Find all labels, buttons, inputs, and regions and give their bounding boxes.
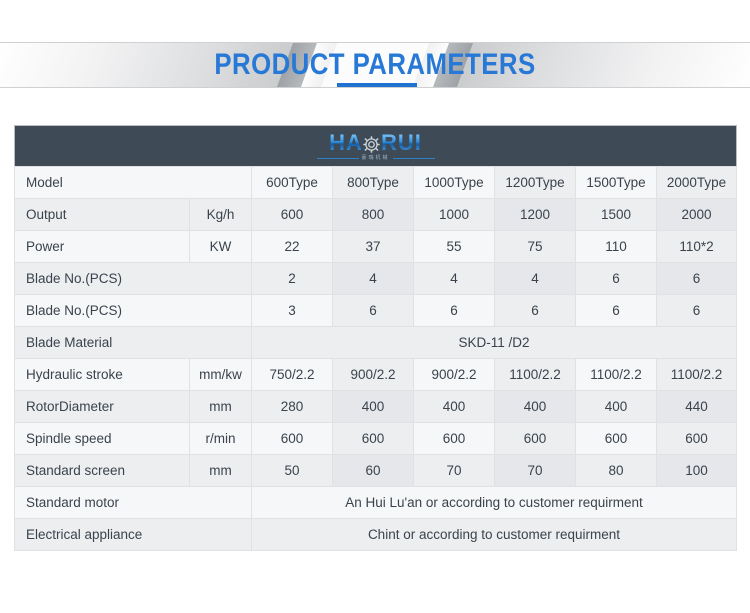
- row-value: 1200Type: [495, 167, 576, 199]
- product-parameters-page: PRODUCT PARAMETERS HA: [0, 0, 750, 613]
- row-label: Standard screen: [15, 455, 190, 487]
- logo-row: HA: [15, 126, 737, 167]
- row-value: 1100/2.2: [657, 359, 737, 391]
- row-value: 600: [333, 423, 414, 455]
- logo-stack: HA: [317, 132, 435, 161]
- table-row: OutputKg/h6008001000120015002000: [15, 199, 737, 231]
- logo-subtitle-text: 豪瑞机械: [362, 156, 390, 161]
- row-value: 110: [576, 231, 657, 263]
- row-value: 1500: [576, 199, 657, 231]
- row-value: 6: [333, 295, 414, 327]
- row-value: 600: [414, 423, 495, 455]
- row-value: 280: [252, 391, 333, 423]
- brand-logo: HA: [15, 126, 736, 166]
- row-label: Electrical appliance: [15, 519, 252, 551]
- row-value: 600: [252, 199, 333, 231]
- row-unit: mm: [190, 455, 252, 487]
- product-parameters-table: HA: [14, 125, 737, 551]
- row-label: RotorDiameter: [15, 391, 190, 423]
- table-row: Spindle speedr/min600600600600600600: [15, 423, 737, 455]
- row-value: 4: [333, 263, 414, 295]
- table-row: PowerKW22375575110110*2: [15, 231, 737, 263]
- logo-subtitle: 豪瑞机械: [317, 156, 435, 161]
- row-value: 60: [333, 455, 414, 487]
- row-value: 1200: [495, 199, 576, 231]
- table-row: Blade No.(PCS)244466: [15, 263, 737, 295]
- logo-text-after: RUI: [381, 132, 422, 154]
- row-value: 400: [414, 391, 495, 423]
- logo-rule-left: [317, 158, 359, 159]
- section-banner: PRODUCT PARAMETERS: [0, 42, 750, 88]
- row-value: 4: [414, 263, 495, 295]
- row-unit: KW: [190, 231, 252, 263]
- row-label: Output: [15, 199, 190, 231]
- row-value: 6: [576, 263, 657, 295]
- row-value: 1000Type: [414, 167, 495, 199]
- row-value: 600: [576, 423, 657, 455]
- table-row: Hydraulic strokemm/kw750/2.2900/2.2900/2…: [15, 359, 737, 391]
- row-value: 6: [576, 295, 657, 327]
- table-row: Blade No.(PCS)366666: [15, 295, 737, 327]
- row-unit: Kg/h: [190, 199, 252, 231]
- row-value: 1500Type: [576, 167, 657, 199]
- row-value: 800: [333, 199, 414, 231]
- row-value: 6: [414, 295, 495, 327]
- row-label: Blade Material: [15, 327, 252, 359]
- table-row: Standard screenmm5060707080100: [15, 455, 737, 487]
- logo-text-before: HA: [329, 132, 363, 154]
- row-value: 3: [252, 295, 333, 327]
- row-value: 400: [333, 391, 414, 423]
- row-value-merged: Chint or according to customer requirmen…: [252, 519, 737, 551]
- row-value: 75: [495, 231, 576, 263]
- row-label: Power: [15, 231, 190, 263]
- row-label: Hydraulic stroke: [15, 359, 190, 391]
- row-value-merged: An Hui Lu'an or according to customer re…: [252, 487, 737, 519]
- row-value: 70: [495, 455, 576, 487]
- row-value: 600: [657, 423, 737, 455]
- table-row: Model600Type800Type1000Type1200Type1500T…: [15, 167, 737, 199]
- logo-rule-right: [393, 158, 435, 159]
- row-value: 600: [495, 423, 576, 455]
- row-value: 2000Type: [657, 167, 737, 199]
- table-row: Electrical applianceChint or according t…: [15, 519, 737, 551]
- row-value: 600Type: [252, 167, 333, 199]
- row-value: 22: [252, 231, 333, 263]
- logo-wordmark: HA: [329, 132, 422, 154]
- row-value: 4: [495, 263, 576, 295]
- row-unit: r/min: [190, 423, 252, 455]
- table-row: Standard motorAn Hui Lu'an or according …: [15, 487, 737, 519]
- row-value: 100: [657, 455, 737, 487]
- spec-table-container: HA: [14, 125, 736, 551]
- row-label: Blade No.(PCS): [15, 263, 252, 295]
- brand-header-cell: HA: [15, 126, 737, 167]
- row-value: 70: [414, 455, 495, 487]
- row-value: 600: [252, 423, 333, 455]
- row-value: 50: [252, 455, 333, 487]
- row-value: 1100/2.2: [576, 359, 657, 391]
- title-underline: [337, 83, 417, 87]
- banner-rule-bottom: [0, 87, 750, 88]
- row-value: 1100/2.2: [495, 359, 576, 391]
- table-row: Blade MaterialSKD-11 /D2: [15, 327, 737, 359]
- spec-table-body: HA: [15, 126, 737, 551]
- row-value: 6: [657, 263, 737, 295]
- row-value: 2: [252, 263, 333, 295]
- row-value: 55: [414, 231, 495, 263]
- row-label: Blade No.(PCS): [15, 295, 252, 327]
- row-value: 900/2.2: [414, 359, 495, 391]
- row-value: 80: [576, 455, 657, 487]
- table-row: RotorDiametermm280400400400400440: [15, 391, 737, 423]
- row-unit: mm: [190, 391, 252, 423]
- row-value: 440: [657, 391, 737, 423]
- row-value: 400: [576, 391, 657, 423]
- row-value-merged: SKD-11 /D2: [252, 327, 737, 359]
- row-value: 900/2.2: [333, 359, 414, 391]
- row-value: 1000: [414, 199, 495, 231]
- row-value: 37: [333, 231, 414, 263]
- row-value: 6: [495, 295, 576, 327]
- row-value: 110*2: [657, 231, 737, 263]
- row-label: Model: [15, 167, 252, 199]
- row-label: Standard motor: [15, 487, 252, 519]
- row-label: Spindle speed: [15, 423, 190, 455]
- row-unit: mm/kw: [190, 359, 252, 391]
- row-value: 750/2.2: [252, 359, 333, 391]
- row-value: 400: [495, 391, 576, 423]
- row-value: 6: [657, 295, 737, 327]
- gear-icon: [363, 135, 380, 152]
- page-title: PRODUCT PARAMETERS: [53, 43, 698, 87]
- row-value: 800Type: [333, 167, 414, 199]
- row-value: 2000: [657, 199, 737, 231]
